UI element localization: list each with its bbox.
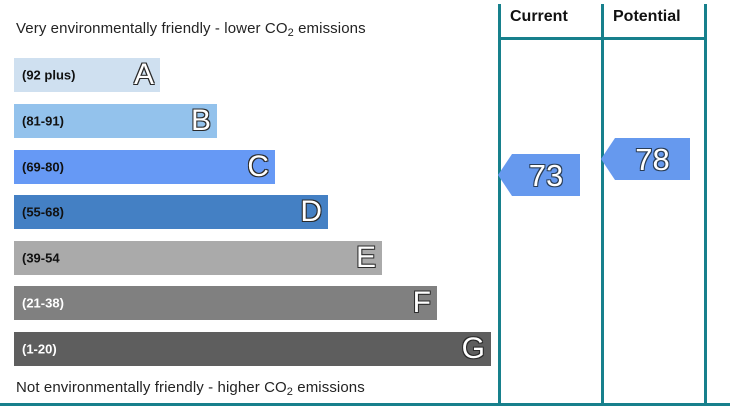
- top-caption-text: Very environmentally friendly - lower CO: [16, 20, 288, 37]
- bottom-caption-text: Not environmentally friendly - higher CO: [16, 379, 287, 396]
- top-caption-tail: emissions: [294, 20, 366, 37]
- rating-band-c: (69-80) C: [14, 150, 275, 184]
- bottom-caption-tail: emissions: [293, 379, 365, 396]
- band-c-range: (69-80): [22, 161, 64, 174]
- current-rating-value: 73: [515, 160, 563, 191]
- band-f-letter: F: [413, 288, 431, 318]
- band-b-range: (81-91): [22, 115, 64, 128]
- band-d-letter: D: [300, 197, 322, 227]
- chart-bottom-border: [0, 403, 730, 406]
- rating-band-f: (21-38) F: [14, 286, 437, 320]
- bottom-caption: Not environmentally friendly - higher CO…: [16, 379, 365, 396]
- bottom-caption-subscript: 2: [287, 386, 293, 398]
- band-e-letter: E: [356, 243, 376, 273]
- column-header-current: Current: [510, 8, 568, 26]
- band-a-range: (92 plus): [22, 69, 75, 82]
- rating-band-g: (1-20) G: [14, 332, 491, 366]
- column-header-potential: Potential: [613, 8, 681, 26]
- potential-rating-value: 78: [621, 144, 669, 175]
- rating-band-b: (81-91) B: [14, 104, 217, 138]
- band-g-range: (1-20): [22, 343, 57, 356]
- band-a-letter: A: [134, 60, 154, 90]
- panel-middle-divider: [601, 4, 604, 406]
- epc-environmental-impact-chart: Very environmentally friendly - lower CO…: [0, 0, 730, 415]
- panel-left-border: [498, 4, 501, 406]
- potential-rating-arrow: 78: [601, 138, 690, 180]
- current-header-underline: [498, 37, 601, 40]
- top-caption: Very environmentally friendly - lower CO…: [16, 20, 366, 37]
- band-f-range: (21-38): [22, 297, 64, 310]
- band-c-letter: C: [247, 152, 269, 182]
- current-rating-arrow: 73: [498, 154, 580, 196]
- rating-band-a: (92 plus) A: [14, 58, 160, 92]
- rating-band-e: (39-54 E: [14, 241, 382, 275]
- band-e-range: (39-54: [22, 252, 60, 265]
- band-b-letter: B: [191, 106, 211, 136]
- band-d-range: (55-68): [22, 206, 64, 219]
- potential-header-underline: [601, 37, 707, 40]
- panel-right-border: [704, 4, 707, 406]
- band-g-letter: G: [462, 334, 485, 364]
- rating-band-d: (55-68) D: [14, 195, 328, 229]
- top-caption-subscript: 2: [288, 27, 294, 39]
